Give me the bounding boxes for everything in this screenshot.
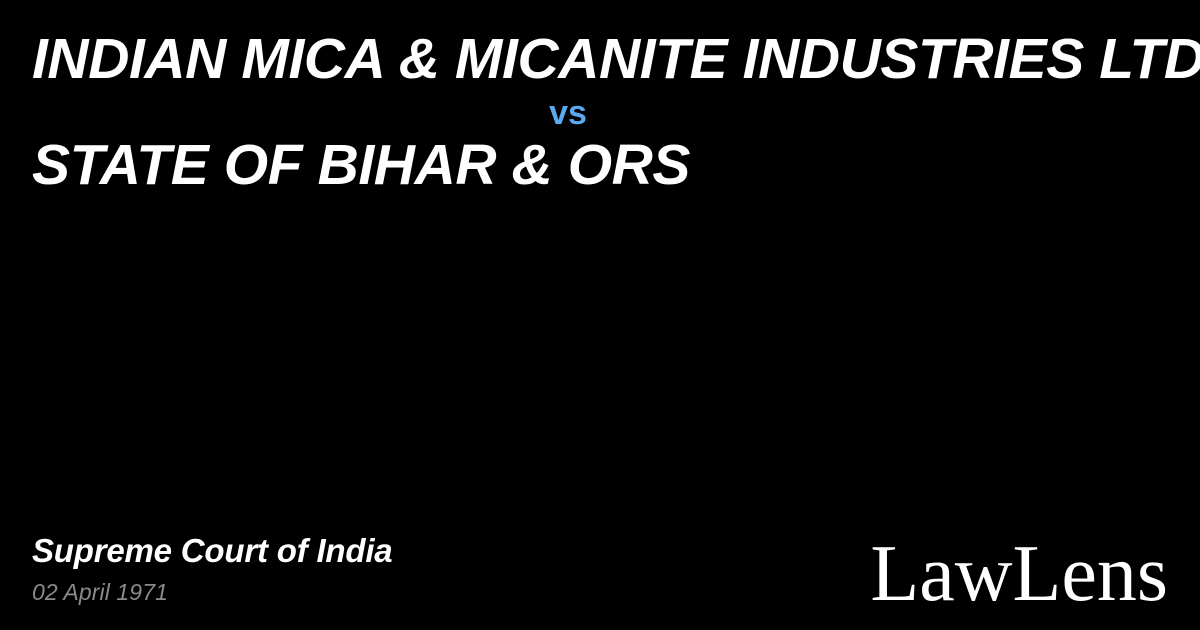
petitioner-name: INDIAN MICA & MICANITE INDUSTRIES LTD. — [32, 30, 1168, 88]
court-name: Supreme Court of India — [32, 533, 392, 569]
lawlens-wordmark-logo: LawLens — [870, 542, 1168, 608]
footer-meta: Supreme Court of India 02 April 1971 — [32, 533, 392, 604]
card-footer: Supreme Court of India 02 April 1971 Law… — [32, 533, 1168, 604]
respondent-name: STATE OF BIHAR & ORS — [32, 136, 1168, 194]
case-title-block: INDIAN MICA & MICANITE INDUSTRIES LTD. v… — [32, 30, 1168, 194]
judgment-date: 02 April 1971 — [32, 581, 168, 604]
versus-row: vs — [0, 96, 1136, 130]
versus-separator-label: vs — [549, 96, 587, 130]
case-card: INDIAN MICA & MICANITE INDUSTRIES LTD. v… — [0, 0, 1200, 630]
